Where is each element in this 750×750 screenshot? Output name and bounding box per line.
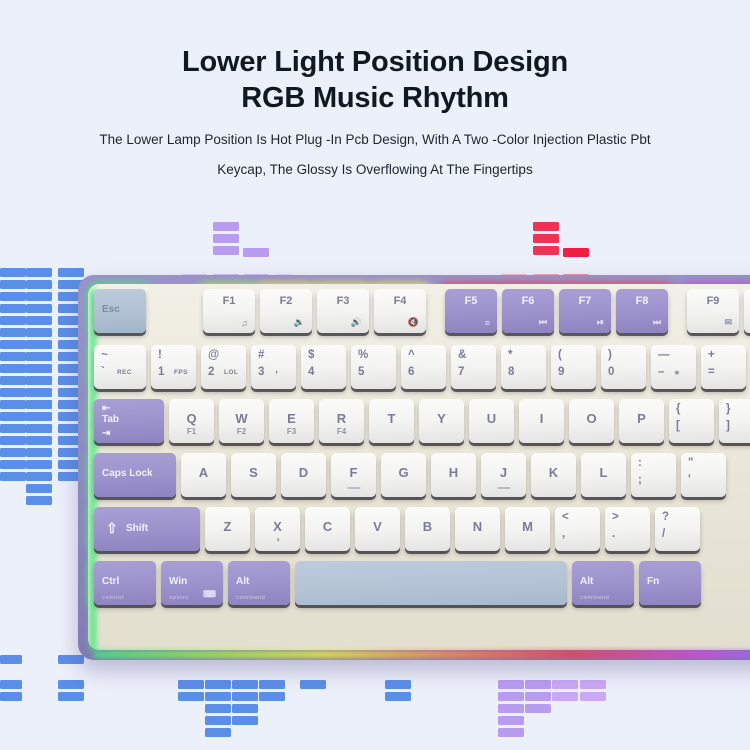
key-legend-primary: / <box>662 528 665 540</box>
key-rgb-glow <box>666 396 717 446</box>
eq-bar-bottom-purple <box>580 680 606 689</box>
eq-bar-bottom <box>0 655 22 664</box>
eq-bar-left <box>0 412 26 421</box>
key-esc[interactable]: Esc <box>94 289 146 333</box>
key-bracket-left[interactable]: {[ <box>669 399 714 443</box>
key-legend-shifted: @ <box>208 349 219 361</box>
key-rgb-glow <box>91 342 149 392</box>
eq-bar-left <box>0 280 26 289</box>
key-minus[interactable]: —–☀ <box>651 345 696 389</box>
key-f6[interactable]: F6⏮ <box>502 289 554 333</box>
eq-bar-bottom-purple <box>498 716 524 725</box>
key-tab[interactable]: ⇤Tab⇥ <box>94 399 164 443</box>
eq-bar-left <box>0 304 26 313</box>
eq-bar-top-red <box>533 246 559 255</box>
key-alt-right[interactable]: Altcommand <box>572 561 634 605</box>
eq-bar-bottom <box>232 692 258 701</box>
eq-bar-left <box>26 364 52 373</box>
key-f5[interactable]: F5≡ <box>445 289 497 333</box>
key-rgb-glow <box>556 286 614 336</box>
eq-bar-left <box>0 376 26 385</box>
key-legend-shifted: ^ <box>408 349 415 361</box>
page-title-line2: RGB Music Rhythm <box>0 80 750 116</box>
key-legend-primary: 5 <box>358 366 364 378</box>
key-legend-primary: F7 <box>559 295 611 307</box>
eq-bar-left <box>0 448 26 457</box>
key-f10[interactable]: F10 <box>744 289 750 333</box>
key-rgb-glow <box>371 286 429 336</box>
eq-bar-left <box>0 388 26 397</box>
eq-bar-left <box>0 328 26 337</box>
key-key-o[interactable]: O <box>569 399 614 443</box>
key-legend-shifted: * <box>508 349 512 361</box>
key-key-l[interactable]: L <box>581 453 626 497</box>
key-rgb-glow <box>200 286 258 336</box>
eq-bar-bottom-purple <box>498 692 524 701</box>
eq-bar-bottom-purple <box>525 680 551 689</box>
key-legend-primary: A <box>181 465 226 480</box>
key-key-u[interactable]: U <box>469 399 514 443</box>
key-legend-primary: E <box>269 411 314 426</box>
eq-bar-left <box>26 496 52 505</box>
key-legend-primary: S <box>231 465 276 480</box>
key-slash[interactable]: ?/ <box>655 507 700 551</box>
eq-bar-top-purple <box>213 234 239 243</box>
key-legend-shifted: ~ <box>101 349 108 361</box>
eq-bar-left <box>0 364 26 373</box>
eq-bar-bottom <box>178 692 204 701</box>
eq-bar-left <box>26 484 52 493</box>
key-rgb-glow <box>678 450 729 500</box>
eq-bar-top-red <box>563 248 589 257</box>
eq-bar-left <box>26 448 52 457</box>
eq-bar-bottom <box>205 680 231 689</box>
key-legend-primary: W <box>219 411 264 426</box>
key-key-w[interactable]: WF2 <box>219 399 264 443</box>
homing-bar <box>347 487 360 489</box>
key-legend-shifted: # <box>258 349 264 361</box>
key-legend-primary: V <box>355 519 400 534</box>
key-legend-secondary: F3 <box>269 427 314 436</box>
key-legend-primary: ' <box>688 474 691 486</box>
key-media-icon: ✉ <box>724 317 732 328</box>
key-legend-primary: 8 <box>508 366 514 378</box>
key-legend-shifted: ( <box>558 349 562 361</box>
key-rgb-glow <box>498 342 549 392</box>
key-legend-primary: [ <box>676 420 680 432</box>
eq-bar-bottom <box>205 704 231 713</box>
keyboard-row-shift-row: ⇧ShiftZX◑CVBNM<,>.?/ <box>94 507 705 551</box>
key-rgb-glow <box>298 342 349 392</box>
key-legend-secondary: FPS <box>174 369 188 376</box>
key-digit-0[interactable]: )0 <box>601 345 646 389</box>
eq-bar-left <box>0 340 26 349</box>
key-key-s[interactable]: S <box>231 453 276 497</box>
key-legend-primary: Caps Lock <box>102 468 153 479</box>
key-gap <box>431 289 445 333</box>
key-legend-primary: O <box>569 411 614 426</box>
key-key-a[interactable]: A <box>181 453 226 497</box>
key-legend-primary: 0 <box>608 366 614 378</box>
key-key-p[interactable]: P <box>619 399 664 443</box>
key-legend-shifted: $ <box>308 349 314 361</box>
key-legend-secondary: command <box>580 595 609 601</box>
key-legend-primary: F9 <box>687 295 739 307</box>
key-legend-primary: Q <box>169 411 214 426</box>
eq-bar-bottom <box>0 680 22 689</box>
key-rgb-glow <box>148 342 199 392</box>
eq-bar-left <box>26 268 52 277</box>
key-legend-primary: Win <box>169 576 187 587</box>
key-legend-primary: X <box>255 519 300 534</box>
key-modifier-icon: ⌨ <box>203 589 216 600</box>
key-rgb-glow <box>398 342 449 392</box>
key-legend-shifted: ! <box>158 349 162 361</box>
keyboard-row-home-row: Caps LockASDFGHJKL:;"' <box>94 453 731 497</box>
key-legend-primary: 2 <box>208 366 214 378</box>
key-rgb-glow <box>548 342 599 392</box>
key-f9[interactable]: F9✉ <box>687 289 739 333</box>
key-media-icon: ⏯ <box>597 317 604 328</box>
eq-bar-bottom-purple <box>552 692 578 701</box>
key-rgb-glow <box>314 286 372 336</box>
key-key-v[interactable]: V <box>355 507 400 551</box>
key-legend-primary: H <box>431 465 476 480</box>
key-media-icon: ⏮ <box>539 317 547 328</box>
key-equals[interactable]: += <box>701 345 746 389</box>
key-legend-primary: R <box>319 411 364 426</box>
key-f3[interactable]: F3🔊 <box>317 289 369 333</box>
key-legend-primary: L <box>581 465 626 480</box>
eq-bar-bottom <box>205 692 231 701</box>
key-digit-4[interactable]: $4 <box>301 345 346 389</box>
eq-bar-left <box>26 292 52 301</box>
key-spacebar[interactable] <box>295 561 567 605</box>
key-legend-primary: C <box>305 519 350 534</box>
page-title-line1: Lower Light Position Design <box>0 44 750 80</box>
keyboard-row-function-row: EscF1♫F2🔉F3🔊F4🔇F5≡F6⏮F7⏯F8⏭F9✉F10 <box>94 289 750 333</box>
key-legend-shifted: " <box>688 457 693 469</box>
key-digit-8[interactable]: *8 <box>501 345 546 389</box>
eq-bar-bottom-purple <box>498 704 524 713</box>
key-key-n[interactable]: N <box>455 507 500 551</box>
eq-bar-bottom <box>385 680 411 689</box>
eq-bar-left <box>26 304 52 313</box>
tab-right-arrow-icon: ⇥ <box>102 428 110 439</box>
key-legend-primary: M <box>505 519 550 534</box>
eq-bar-left <box>26 352 52 361</box>
key-quote[interactable]: "' <box>681 453 726 497</box>
key-legend-primary: Alt <box>580 576 593 587</box>
eq-bar-bottom <box>205 728 231 737</box>
eq-bar-top-purple <box>213 222 239 231</box>
keyboard-row-modifier-row: CtrlcontrolWinoption⌨AltcommandAltcomman… <box>94 561 706 605</box>
eq-bar-bottom <box>0 692 22 701</box>
key-legend-primary: F8 <box>616 295 668 307</box>
page-subtitle-line1: The Lower Lamp Position Is Hot Plug -In … <box>0 125 750 155</box>
key-rgb-glow <box>648 342 699 392</box>
key-key-x[interactable]: X◑ <box>255 507 300 551</box>
key-key-k[interactable]: K <box>531 453 576 497</box>
key-legend-primary: F3 <box>317 295 369 307</box>
key-legend-primary: 4 <box>308 366 314 378</box>
eq-bar-left <box>0 472 26 481</box>
key-key-h[interactable]: H <box>431 453 476 497</box>
key-alt-left[interactable]: Altcommand <box>228 561 290 605</box>
key-legend-secondary: F2 <box>219 427 264 436</box>
key-rgb-glow <box>442 286 500 336</box>
eq-bar-left <box>26 340 52 349</box>
key-legend-secondary: ◑ <box>255 535 300 544</box>
key-key-z[interactable]: Z <box>205 507 250 551</box>
key-key-q[interactable]: QF1 <box>169 399 214 443</box>
eq-bar-bottom-purple <box>498 728 524 737</box>
eq-bar-left <box>26 400 52 409</box>
key-rgb-glow <box>448 342 499 392</box>
key-legend-primary: P <box>619 411 664 426</box>
key-key-t[interactable]: T <box>369 399 414 443</box>
key-period[interactable]: >. <box>605 507 650 551</box>
key-key-c[interactable]: C <box>305 507 350 551</box>
eq-bar-left <box>0 268 26 277</box>
key-rgb-glow <box>499 286 557 336</box>
key-legend-primary: Z <box>205 519 250 534</box>
key-backtick[interactable]: ~`REC <box>94 345 146 389</box>
key-shift-left[interactable]: ⇧Shift <box>94 507 200 551</box>
eq-bar-bottom <box>385 692 411 701</box>
eq-bar-bottom <box>178 680 204 689</box>
key-fn[interactable]: Fn <box>639 561 701 605</box>
eq-bar-top-purple <box>243 248 269 257</box>
key-rgb-glow <box>257 286 315 336</box>
keyboard-keys-area: EscF1♫F2🔉F3🔊F4🔇F5≡F6⏮F7⏯F8⏭F9✉F10~`REC!1… <box>94 289 750 652</box>
key-legend-primary: 6 <box>408 366 414 378</box>
key-legend-secondary: REC <box>117 369 132 376</box>
key-caps-lock[interactable]: Caps Lock <box>94 453 176 497</box>
eq-bar-bottom-purple <box>580 692 606 701</box>
eq-bar-left <box>26 412 52 421</box>
key-legend-primary: F <box>331 465 376 480</box>
tab-left-arrow-icon: ⇤ <box>102 403 110 414</box>
key-legend-primary: . <box>612 528 615 540</box>
key-legend-primary: J <box>481 465 526 480</box>
eq-bar-bottom-purple <box>525 704 551 713</box>
key-legend-secondary: ◑ <box>274 369 278 376</box>
eq-bar-bottom <box>205 716 231 725</box>
key-legend-primary: 3 <box>258 366 264 378</box>
key-legend-primary: K <box>531 465 576 480</box>
key-legend-secondary: option <box>169 595 189 601</box>
key-legend-primary: Y <box>419 411 464 426</box>
key-legend-primary: Shift <box>126 523 148 534</box>
key-legend-primary: G <box>381 465 426 480</box>
key-digit-1[interactable]: !1FPS <box>151 345 196 389</box>
key-legend-primary: F1 <box>203 295 255 307</box>
key-f1[interactable]: F1♫ <box>203 289 255 333</box>
key-legend-secondary: control <box>102 595 124 601</box>
eq-bar-left <box>26 280 52 289</box>
eq-bar-bottom-purple <box>498 680 524 689</box>
key-legend-primary: = <box>708 366 715 378</box>
key-rgb-glow <box>248 342 299 392</box>
eq-bar-bottom <box>58 692 84 701</box>
key-legend-shifted: + <box>708 349 715 361</box>
key-win[interactable]: Winoption⌨ <box>161 561 223 605</box>
key-rgb-glow <box>698 342 749 392</box>
key-key-b[interactable]: B <box>405 507 450 551</box>
key-media-icon: ≡ <box>485 318 490 328</box>
key-legend-primary: ` <box>101 366 105 378</box>
eq-bar-bottom <box>300 680 326 689</box>
key-legend-primary: F2 <box>260 295 312 307</box>
key-legend-primary: 1 <box>158 366 164 378</box>
key-digit-9[interactable]: (9 <box>551 345 596 389</box>
key-legend-primary: Esc <box>102 304 120 315</box>
eq-bar-left <box>26 316 52 325</box>
eq-bar-top-purple <box>213 246 239 255</box>
key-legend-secondary: LOL <box>224 369 238 376</box>
key-ctrl-left[interactable]: Ctrlcontrol <box>94 561 156 605</box>
key-legend-shifted: : <box>638 457 642 469</box>
eq-bar-bottom-purple <box>525 692 551 701</box>
homing-bar <box>497 487 510 489</box>
key-digit-3[interactable]: #3◑ <box>251 345 296 389</box>
key-legend-shifted: > <box>612 511 619 523</box>
eq-bar-bottom <box>58 680 84 689</box>
key-key-y[interactable]: Y <box>419 399 464 443</box>
key-rgb-glow <box>741 286 750 336</box>
eq-bar-left <box>0 460 26 469</box>
eq-bar-left <box>26 472 52 481</box>
page-subtitle-line2: Keycap, The Glossy Is Overflowing At The… <box>0 155 750 185</box>
eq-bar-left <box>0 424 26 433</box>
key-legend-primary: N <box>455 519 500 534</box>
keyboard-row-number-row: ~`REC!1FPS@2LOL#3◑$4%5^6&7*8(9)0—–☀+= <box>94 345 750 389</box>
key-semicolon[interactable]: :; <box>631 453 676 497</box>
key-legend-primary: B <box>405 519 450 534</box>
key-key-r[interactable]: RF4 <box>319 399 364 443</box>
eq-bar-left <box>26 376 52 385</box>
eq-bar-left <box>0 292 26 301</box>
key-legend-secondary: F4 <box>319 427 364 436</box>
key-media-icon: 🔇 <box>408 317 419 328</box>
key-key-f[interactable]: F <box>331 453 376 497</box>
key-media-icon: 🔉 <box>294 317 305 328</box>
key-legend-primary: 7 <box>458 366 464 378</box>
key-legend-secondary: command <box>236 595 265 601</box>
key-key-i[interactable]: I <box>519 399 564 443</box>
key-key-e[interactable]: EF3 <box>269 399 314 443</box>
key-legend-shifted: — <box>658 349 670 361</box>
key-rgb-glow <box>598 342 649 392</box>
key-legend-primary: Tab <box>102 414 119 425</box>
key-digit-6[interactable]: ^6 <box>401 345 446 389</box>
key-bracket-right[interactable]: }] <box>719 399 750 443</box>
key-digit-2[interactable]: @2LOL <box>201 345 246 389</box>
key-key-m[interactable]: M <box>505 507 550 551</box>
key-legend-shifted: { <box>676 403 680 415</box>
key-legend-primary: – <box>658 366 664 378</box>
key-legend-primary: 9 <box>558 366 564 378</box>
key-legend-primary: F5 <box>445 295 497 307</box>
key-legend-shifted: } <box>726 403 730 415</box>
key-f8[interactable]: F8⏭ <box>616 289 668 333</box>
eq-bar-left <box>0 400 26 409</box>
key-f2[interactable]: F2🔉 <box>260 289 312 333</box>
key-rgb-glow <box>348 342 399 392</box>
key-rgb-glow <box>552 504 603 554</box>
eq-bar-bottom <box>58 655 84 664</box>
key-key-g[interactable]: G <box>381 453 426 497</box>
eq-bar-left <box>26 424 52 433</box>
key-legend-primary: D <box>281 465 326 480</box>
key-legend-primary: T <box>369 411 414 426</box>
eq-bar-left <box>0 316 26 325</box>
key-comma[interactable]: <, <box>555 507 600 551</box>
key-legend-primary: ; <box>638 474 642 486</box>
key-f4[interactable]: F4🔇 <box>374 289 426 333</box>
key-media-icon: ⏭ <box>653 317 661 328</box>
keyboard-row-qwerty-row: ⇤Tab⇥QF1WF2EF3RF4TYUIOP{[}] <box>94 399 750 443</box>
key-legend-shifted: ) <box>608 349 612 361</box>
key-gap <box>673 289 687 333</box>
key-legend-primary: F10 <box>744 295 750 307</box>
key-digit-5[interactable]: %5 <box>351 345 396 389</box>
key-gap <box>151 289 203 333</box>
key-legend-primary: U <box>469 411 514 426</box>
key-legend-primary: Alt <box>236 576 249 587</box>
page-root: Lower Light Position Design RGB Music Rh… <box>0 0 750 750</box>
eq-bar-left <box>26 388 52 397</box>
key-legend-primary: Fn <box>647 576 659 587</box>
key-media-icon: 🔊 <box>351 317 362 328</box>
key-rgb-glow <box>652 504 703 554</box>
key-legend-shifted: % <box>358 349 368 361</box>
key-rgb-glow <box>628 450 679 500</box>
eq-bar-left <box>0 436 26 445</box>
header: Lower Light Position Design RGB Music Rh… <box>0 44 750 185</box>
key-media-icon: ♫ <box>241 318 248 328</box>
key-rgb-glow <box>716 396 750 446</box>
key-legend-primary: ] <box>726 420 730 432</box>
key-legend-primary: F4 <box>374 295 426 307</box>
shift-arrow-icon: ⇧ <box>106 520 118 537</box>
key-key-j[interactable]: J <box>481 453 526 497</box>
key-rgb-glow <box>684 286 742 336</box>
key-rgb-glow <box>613 286 671 336</box>
key-legend-primary: I <box>519 411 564 426</box>
eq-bar-bottom <box>232 680 258 689</box>
eq-bar-top-red <box>533 222 559 231</box>
key-legend-secondary: F1 <box>169 427 214 436</box>
eq-bar-left <box>26 436 52 445</box>
key-legend-primary: , <box>562 528 565 540</box>
key-key-d[interactable]: D <box>281 453 326 497</box>
key-rgb-glow <box>602 504 653 554</box>
key-legend-secondary: ☀ <box>674 369 680 377</box>
key-f7[interactable]: F7⏯ <box>559 289 611 333</box>
key-legend-shifted: < <box>562 511 569 523</box>
eq-bar-bottom <box>232 704 258 713</box>
eq-bar-top-red <box>533 234 559 243</box>
eq-bar-bottom <box>232 716 258 725</box>
key-rgb-glow <box>198 342 249 392</box>
keyboard: EscF1♫F2🔉F3🔊F4🔇F5≡F6⏮F7⏯F8⏭F9✉F10~`REC!1… <box>78 275 750 660</box>
eq-bar-bottom <box>259 692 285 701</box>
key-digit-7[interactable]: &7 <box>451 345 496 389</box>
key-rgb-glow <box>292 558 570 608</box>
eq-bar-left <box>26 328 52 337</box>
